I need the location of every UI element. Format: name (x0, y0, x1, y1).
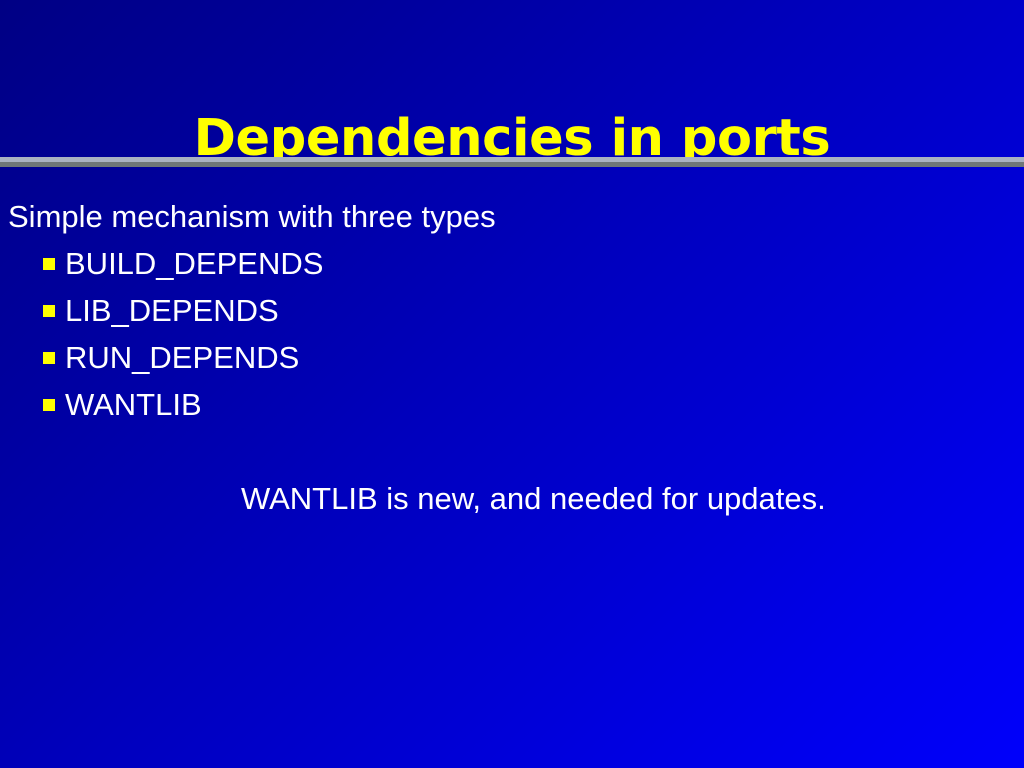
square-bullet-icon (43, 352, 55, 364)
presentation-slide: Dependencies in ports Simple mechanism w… (0, 0, 1024, 768)
lead-line: Simple mechanism with three types (0, 198, 1024, 236)
list-item: LIB_DEPENDS (0, 287, 1024, 334)
title-divider (0, 157, 1024, 167)
slide-title-area: Dependencies in ports (0, 78, 1024, 200)
list-item: BUILD_DEPENDS (0, 240, 1024, 287)
square-bullet-icon (43, 305, 55, 317)
square-bullet-icon (43, 258, 55, 270)
note-line: WANTLIB is new, and needed for updates. (241, 480, 826, 518)
slide-body: Simple mechanism with three types BUILD_… (0, 198, 1024, 428)
bullet-item-label: BUILD_DEPENDS (65, 246, 323, 281)
list-item: WANTLIB (0, 381, 1024, 428)
bullet-item-label: LIB_DEPENDS (65, 293, 279, 328)
bullet-item-label: RUN_DEPENDS (65, 340, 299, 375)
square-bullet-icon (43, 399, 55, 411)
divider-band-dark (0, 162, 1024, 167)
list-item: RUN_DEPENDS (0, 334, 1024, 381)
bullet-list: BUILD_DEPENDS LIB_DEPENDS RUN_DEPENDS WA… (0, 240, 1024, 428)
bullet-item-label: WANTLIB (65, 387, 202, 422)
